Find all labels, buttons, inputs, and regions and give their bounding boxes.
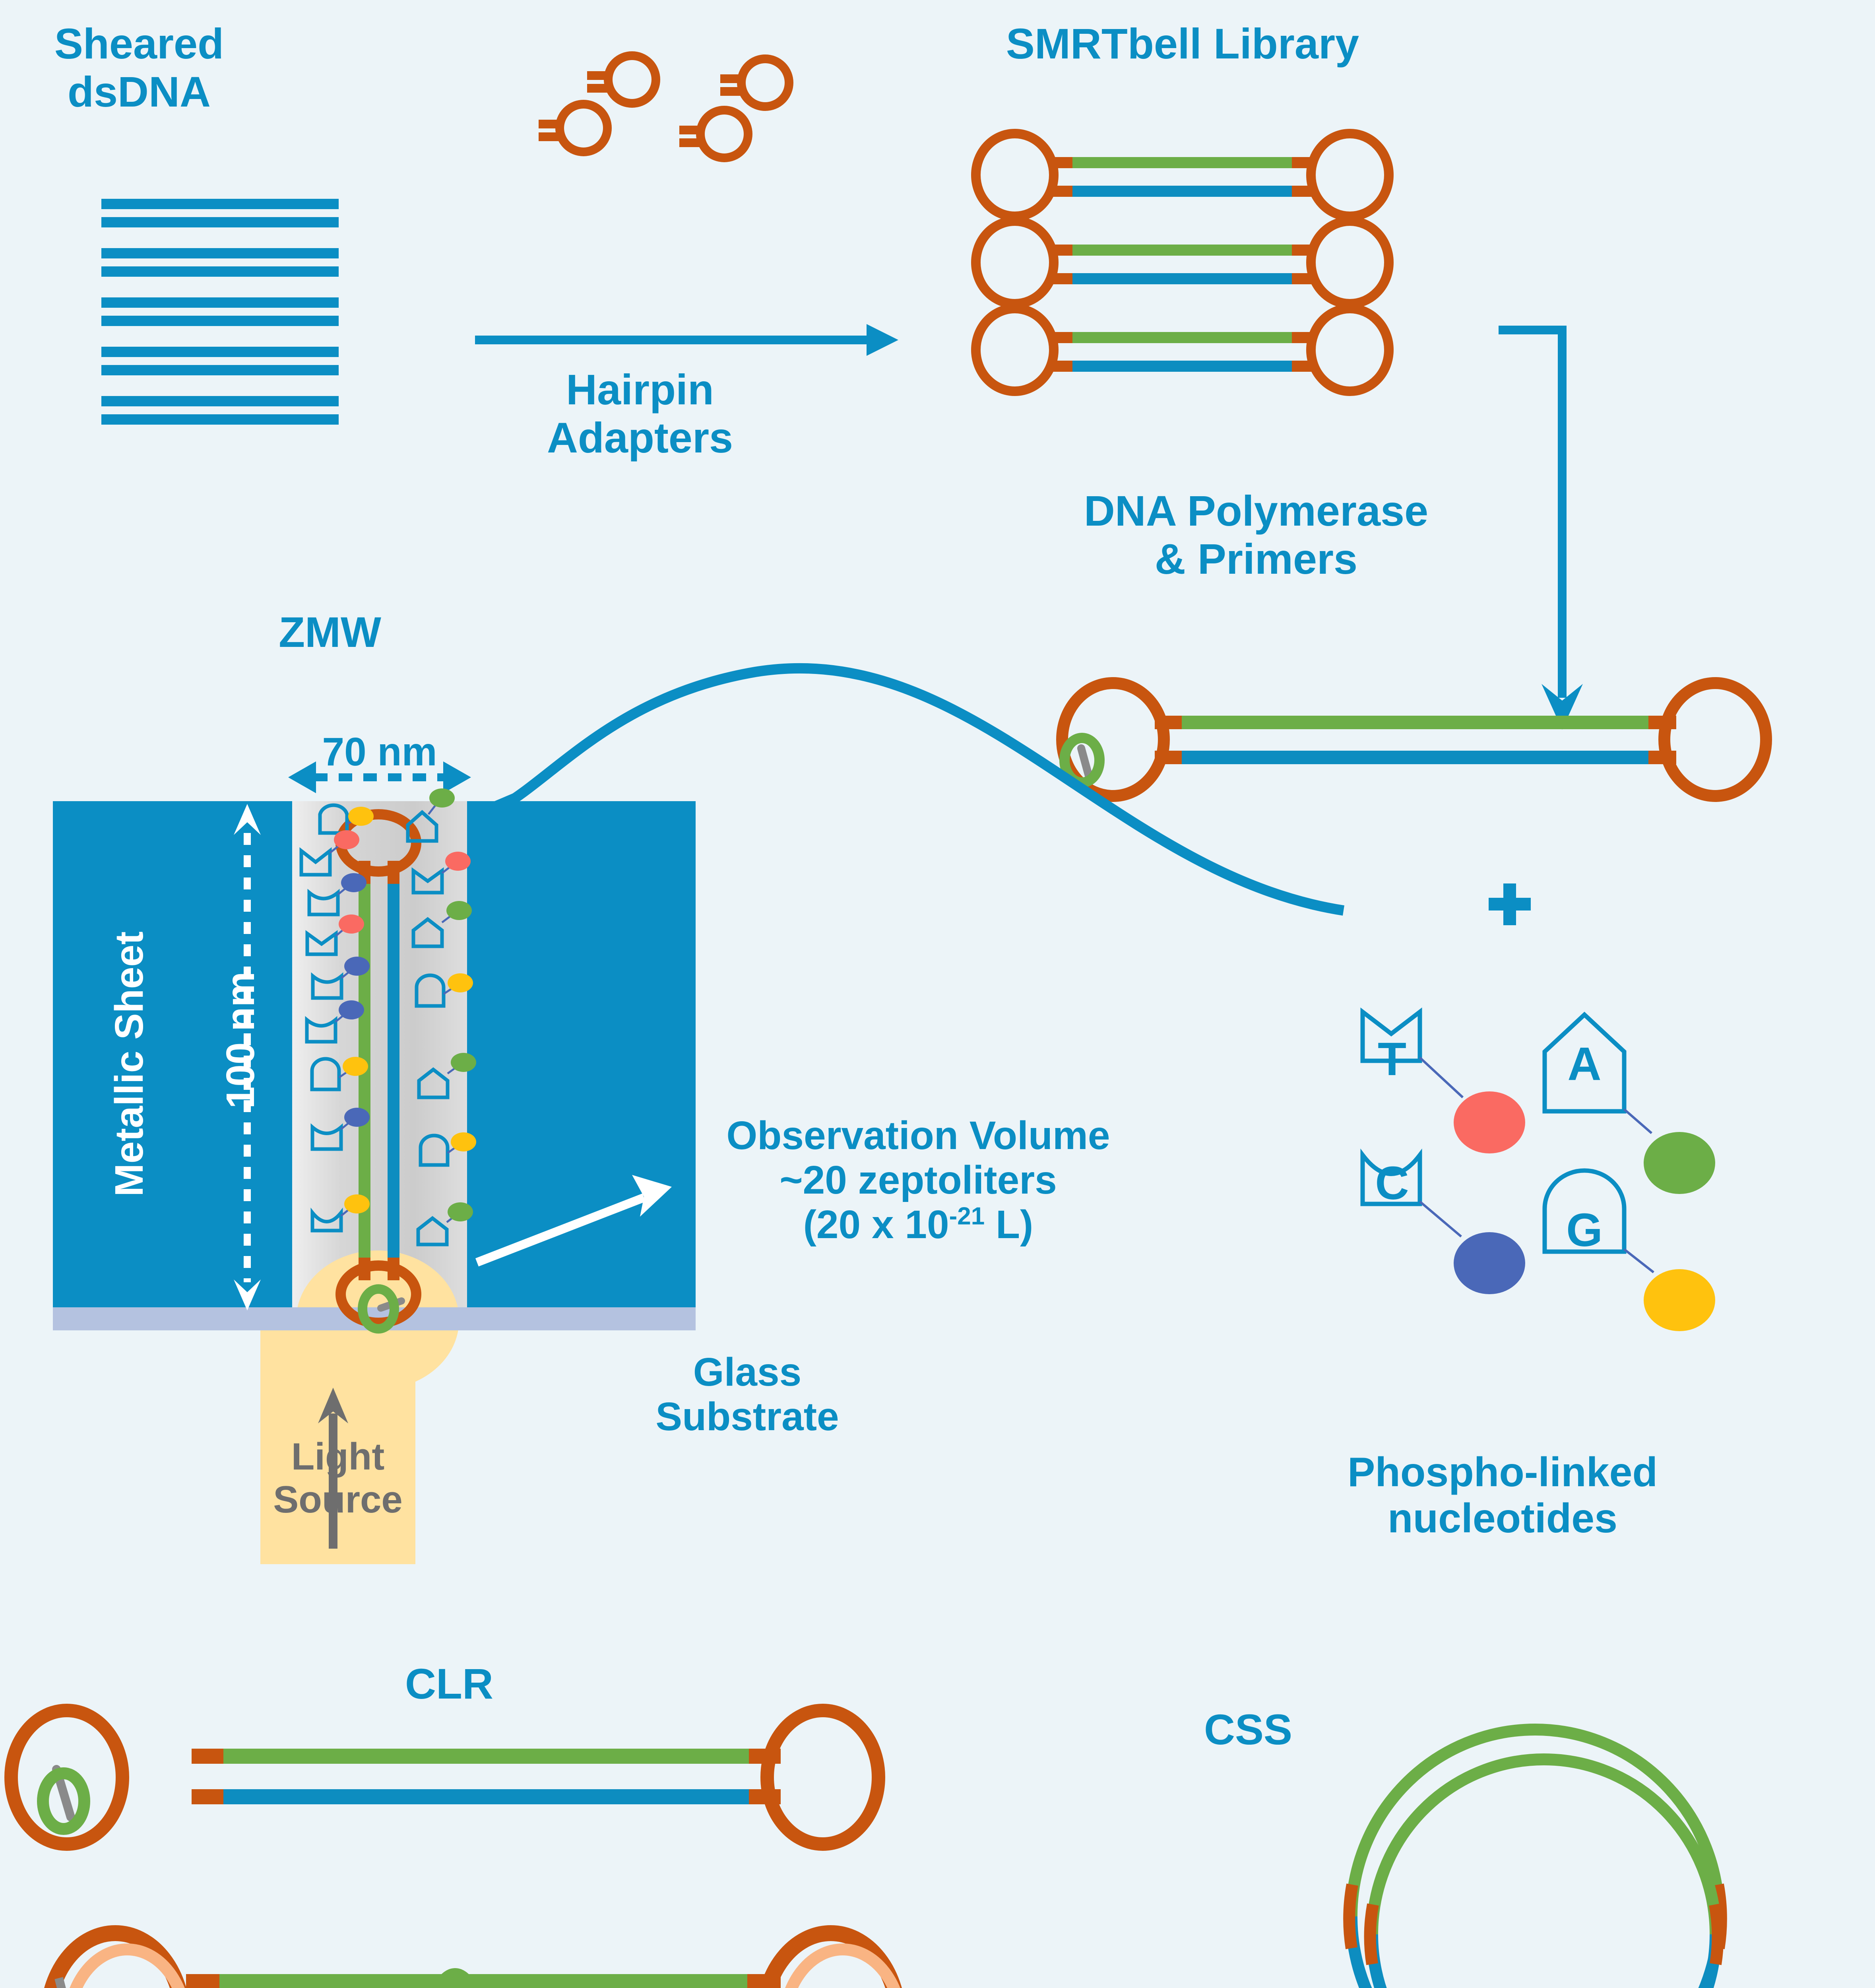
label-70nm: 70 nm [280, 730, 479, 774]
hairpin-adapter-2 [720, 59, 789, 107]
sheared-dsdna-fragments [101, 199, 339, 425]
legend-dye-T [1454, 1091, 1525, 1153]
smrtbell-molecule-2 [976, 221, 1389, 304]
label-smrtbell-library: SMRTbell Library [914, 20, 1451, 68]
legend-letter-A: A [1555, 1038, 1614, 1090]
metallic-sheet-left [53, 801, 300, 1308]
label-light-source: Light Source [260, 1435, 415, 1521]
legend-dye-A [1644, 1132, 1715, 1194]
label-clr: CLR [358, 1660, 541, 1708]
label-phospho-linked-nucleotides: Phospho-linked nucleotides [1268, 1449, 1737, 1542]
smrtbell-molecule-1 [976, 134, 1389, 216]
legend-dye-C [1454, 1232, 1525, 1294]
hairpin-adapter-3 [539, 104, 607, 152]
hairpin-arrow [475, 324, 898, 356]
clr2-green-template [219, 1974, 747, 1988]
css-circle [1349, 1730, 1721, 1988]
label-sheared-dsdna: Sheared dsDNA [40, 20, 238, 116]
label-zmw: ZMW [246, 608, 413, 656]
legend-dye-G [1644, 1269, 1715, 1331]
hairpin-adapter-1 [587, 56, 656, 103]
hairpin-adapter-group [539, 56, 789, 158]
zmw-blue-strand [388, 884, 399, 1258]
legend-letter-C: C [1363, 1157, 1421, 1209]
label-100nm: 100 nm [218, 937, 263, 1143]
clr-molecule-2 [48, 1933, 902, 1988]
metallic-sheet-right [463, 801, 696, 1308]
label-observation-volume: Observation Volume ~20 zeptoliters (20 x… [664, 1113, 1173, 1247]
smrtbell-library-group [976, 134, 1389, 391]
plus-icon [1489, 883, 1531, 925]
label-css: CSS [1165, 1706, 1332, 1754]
observation-volume-formula: (20 x 10-21 L) [664, 1202, 1173, 1247]
label-hairpin-adapters: Hairpin Adapters [477, 366, 803, 462]
diagram-artwork [0, 0, 1875, 1988]
smrtbell-molecule-3 [976, 309, 1389, 391]
label-glass-substrate: Glass Substrate [568, 1350, 926, 1439]
diagram-canvas: Sheared dsDNA Hairpin Adapters SMRTbell … [0, 0, 1875, 1988]
hairpin-adapter-4 [679, 110, 748, 158]
label-dna-polymerase-primers: DNA Polymerase & Primers [1018, 487, 1495, 583]
smrtbell-with-polymerase [1062, 683, 1766, 796]
legend-letter-T: T [1363, 1033, 1421, 1085]
polymerase-arrow [1499, 330, 1583, 730]
legend-letter-G: G [1555, 1204, 1614, 1256]
css-section [1228, 1730, 1784, 1988]
label-metallic-sheet: Metallic Sheet [107, 897, 151, 1231]
